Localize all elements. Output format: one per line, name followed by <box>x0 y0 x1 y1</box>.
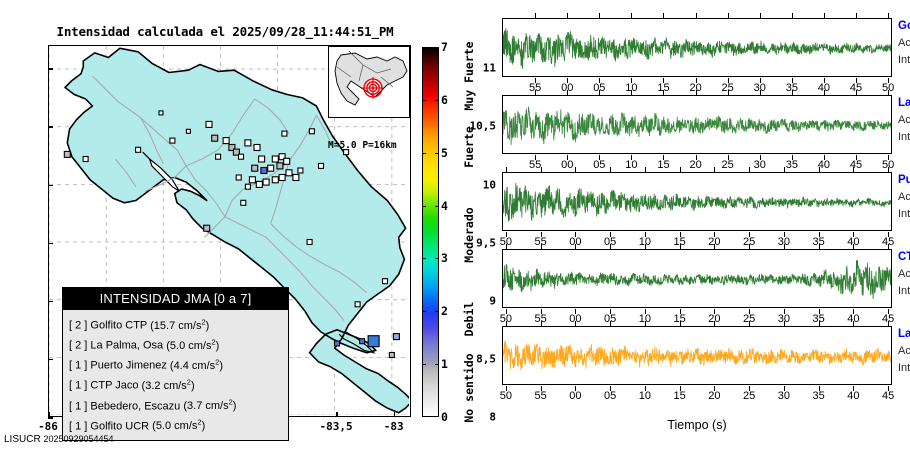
waveform-jma-label: Int JMA: 2 <box>898 54 910 66</box>
legend-station: Bebedero, Escazu <box>90 400 180 412</box>
inset-graphic <box>329 47 409 117</box>
waveform-tick-label: 25 <box>713 159 743 171</box>
magnitude-depth-caption: M=5.0 P=16km <box>328 140 428 151</box>
waveform-station-info: Puerto JimenezAcel. Max. 1.4Int JMA: 1 <box>898 174 910 220</box>
colorbar-tick-mark <box>422 100 439 101</box>
legend-row: [ 1 ] Puerto Jimenez (4.4 cm/s2) <box>69 354 282 374</box>
colorbar-tick-label: 1 <box>441 357 448 371</box>
waveform-station-info: La SabanaAcel. Max. 0.3Int JMA: 0 <box>898 328 910 374</box>
colorbar-tick-label: 2 <box>441 304 448 318</box>
seismic-intensity-report: Intensidad calculada el 2025/09/28_11:44… <box>0 0 910 460</box>
waveform-trace <box>503 250 892 308</box>
legend-row: [ 2 ] La Palma, Osa (5.0 cm/s2) <box>69 334 282 354</box>
legend-row: [ 1 ] Bebedero, Escazu (3.7 cm/s2) <box>69 395 282 415</box>
legend-station: Puerto Jimenez <box>90 360 166 372</box>
colorbar-band-label: Moderado <box>462 207 476 262</box>
legend-station: Golfito CTP <box>90 320 147 332</box>
legend-accel: (4.4 cm/s2) <box>167 360 223 372</box>
waveform-jma-label: Int JMA: 0 <box>898 362 910 374</box>
colorbar-tick-label: 5 <box>441 146 448 160</box>
map-ytick-mark <box>48 126 53 128</box>
legend-intensity: [ 2 ] <box>69 320 90 332</box>
waveform-trace <box>503 327 892 385</box>
legend-row: [ 1 ] Golfito UCR (5.0 cm/s2) <box>69 415 282 435</box>
waveform-station-info: La Palma, OsaAcel. Max. 1.7Int JMA: 2 <box>898 97 910 143</box>
waveform-tick-label: 35 <box>804 390 834 402</box>
colorbar-band-label: Muy Fuerte <box>462 41 476 110</box>
waveform-panel[interactable] <box>502 249 892 308</box>
waveform-station-name: CTP Jaco <box>898 251 910 263</box>
waveform-tick-label: 00 <box>560 390 590 402</box>
waveform-accel-label: Acel. Max. 1.4 <box>898 191 910 203</box>
map-xtick-mark <box>48 412 50 417</box>
waveform-station-name: La Sabana <box>898 328 910 340</box>
waveform-tick-label: 15 <box>648 159 678 171</box>
map-ytick: 10 <box>452 178 496 191</box>
colorbar-band-label: Debil <box>462 302 476 337</box>
waveform-tick-label: 50 <box>491 390 521 402</box>
colorbar-tick-mark <box>422 153 439 154</box>
waveform-trace <box>503 19 892 77</box>
waveform-tick-label: 05 <box>595 390 625 402</box>
legend-intensity: [ 1 ] <box>69 360 90 372</box>
waveform-tick-label: 10 <box>616 159 646 171</box>
waveform-accel-label: Acel. Max. 1.4 <box>898 268 910 280</box>
colorbar-tick-mark <box>422 206 439 207</box>
legend-intensity: [ 1 ] <box>69 420 90 432</box>
legend-station: Golfito UCR <box>90 420 149 432</box>
colorbar-tick-mark <box>422 258 439 259</box>
legend-accel: (5.0 cm/s2) <box>149 420 205 432</box>
waveform-accel-label: Acel. Max. 1.7 <box>898 37 910 49</box>
map-ytick-mark <box>48 301 53 303</box>
colorbar-band-label: No sentido <box>462 353 476 422</box>
legend-accel: (5.0 cm/s2) <box>163 340 219 352</box>
legend-accel: (3.2 cm/s2) <box>139 380 195 392</box>
waveform-panel[interactable] <box>502 95 892 154</box>
waveform-xaxis: 550005101520253035404550 <box>502 78 892 94</box>
footer-agency: LISUCR <box>4 434 41 445</box>
waveform-xaxis: 550005101520253035404550 <box>502 155 892 171</box>
waveform-accel-label: Acel. Max. 0.3 <box>898 345 910 357</box>
map-ytick-mark <box>48 417 53 419</box>
waveform-panel[interactable] <box>502 18 892 77</box>
waveform-tick-label: 40 <box>809 159 839 171</box>
waveform-station-info: Golfito CTPAcel. Max. 1.7Int JMA: 2 <box>898 20 910 66</box>
waveform-jma-label: Int JMA: 2 <box>898 131 910 143</box>
waveform-tick-label: 15 <box>665 390 695 402</box>
map-xtick-mark <box>394 412 396 417</box>
waveform-station-name: Puerto Jimenez <box>898 174 910 186</box>
colorbar-tick-mark <box>422 364 439 365</box>
waveform-trace <box>503 173 892 231</box>
waveform-panel[interactable] <box>502 326 892 385</box>
waveform-tick-label: 35 <box>777 159 807 171</box>
legend-accel: (15.7 cm/s2) <box>147 320 209 332</box>
colorbar-tick-label: 0 <box>441 410 448 424</box>
colorbar-tick-label: 7 <box>441 40 448 54</box>
colorbar-tick-label: 3 <box>441 251 448 265</box>
waveform-tick-label: 00 <box>552 159 582 171</box>
intensity-legend: INTENSIDAD JMA [0 a 7] [ 2 ] Golfito CTP… <box>62 287 289 441</box>
map-xtick: -83 <box>370 420 418 433</box>
colorbar-tick-mark <box>422 311 439 312</box>
legend-accel: (3.7 cm/s2) <box>180 400 236 412</box>
waveform-accel-label: Acel. Max. 1.7 <box>898 114 910 126</box>
colorbar-band-label: Fuerte <box>462 127 476 169</box>
map-ytick-mark <box>48 185 53 187</box>
waveform-jma-label: Int JMA: 1 <box>898 208 910 220</box>
waveform-tick-label: 55 <box>520 159 550 171</box>
legend-row: [ 1 ] CTP Jaco (3.2 cm/s2) <box>69 374 282 394</box>
legend-station: La Palma, Osa <box>90 340 163 352</box>
map-ytick-mark <box>48 243 53 245</box>
waveform-tick-label: 40 <box>838 390 868 402</box>
waveform-tick-label: 45 <box>873 390 903 402</box>
legend-intensity: [ 2 ] <box>69 340 90 352</box>
colorbar-tick-label: 4 <box>441 199 448 213</box>
waveform-station-info: CTP JacoAcel. Max. 1.4Int JMA: 1 <box>898 251 910 297</box>
legend-intensity: [ 1 ] <box>69 380 90 392</box>
legend-row: [ 2 ] Golfito CTP (15.7 cm/s2) <box>69 314 282 334</box>
footer-credit: LISUCR 20250929054454 <box>4 434 114 445</box>
waveform-tick-label: 20 <box>681 159 711 171</box>
colorbar-tick-label: 6 <box>441 93 448 107</box>
intensity-colorbar <box>422 47 439 417</box>
waveform-tick-label: 55 <box>526 390 556 402</box>
waveform-tick-label: 10 <box>630 390 660 402</box>
waveform-trace <box>503 96 892 154</box>
colorbar-tick-mark <box>422 47 439 48</box>
waveform-xaxis: 505500051015202530354045 <box>502 386 892 402</box>
map-ytick-mark <box>48 68 53 70</box>
legend-intensity: [ 1 ] <box>69 400 90 412</box>
map-xtick-mark <box>336 412 338 417</box>
epicenter-inset-map[interactable] <box>328 46 410 118</box>
legend-title: INTENSIDAD JMA [0 a 7] <box>63 288 288 310</box>
map-ytick-mark <box>48 359 53 361</box>
waveform-jma-label: Int JMA: 1 <box>898 285 910 297</box>
waveform-tick-label: 45 <box>841 159 871 171</box>
map-xtick: -83,5 <box>312 420 360 433</box>
waveform-xaxis-label: Tiempo (s) <box>502 418 892 432</box>
waveform-station-name: Golfito CTP <box>898 20 910 32</box>
waveform-tick-label: 25 <box>734 390 764 402</box>
footer-code: 20250929054454 <box>43 434 113 444</box>
waveform-tick-label: 20 <box>699 390 729 402</box>
waveform-station-name: La Palma, Osa <box>898 97 910 109</box>
legend-rows: [ 2 ] Golfito CTP (15.7 cm/s2)[ 2 ] La P… <box>63 310 288 440</box>
page-title: Intensidad calculada el 2025/09/28_11:44… <box>0 24 450 39</box>
legend-station: CTP Jaco <box>90 380 138 392</box>
waveform-panel[interactable] <box>502 172 892 231</box>
waveform-xaxis: 505500051015202530354045 <box>502 232 892 248</box>
waveform-tick-label: 30 <box>769 390 799 402</box>
waveform-xaxis: 505500051015202530354045 <box>502 309 892 325</box>
